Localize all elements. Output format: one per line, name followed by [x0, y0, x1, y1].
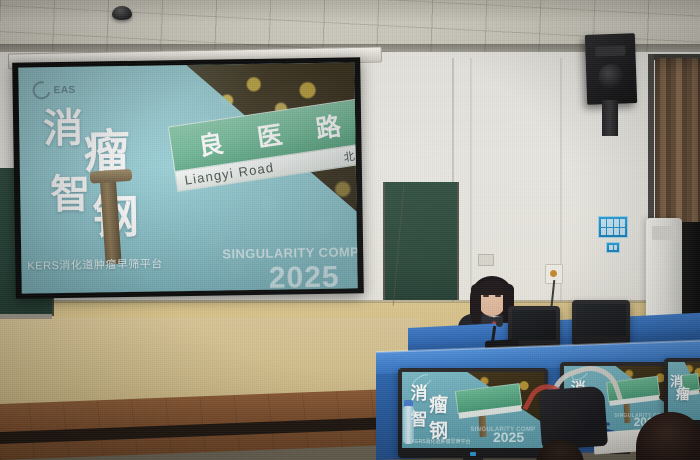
slide-competition-label: SINGULARITY COMP — [222, 244, 358, 261]
wall-speaker — [585, 33, 637, 105]
wall-plate — [478, 254, 494, 266]
street-sign-char-3: 路 — [313, 106, 344, 145]
mini-char-2: 瘤 — [676, 388, 690, 402]
monitor-center[interactable]: 消 瘤 智 钢 SINGULARITY COMP 2025 KERS消化道肿瘤早… — [398, 368, 548, 458]
street-sign-direction-char: 北 — [342, 147, 355, 164]
wall-notice-sign — [598, 216, 628, 238]
projection-screen: EAS 消 瘤 智 钢 良 医 路 Liangyi Road 北 ▶ — [12, 57, 364, 298]
speaker-driver-icon — [598, 64, 625, 91]
ac-control-panel[interactable] — [652, 226, 676, 240]
mini-year: 2025 — [493, 429, 524, 445]
slide-char-1: 消 — [43, 109, 84, 150]
monitor-screen — [512, 310, 556, 340]
slide-logo-mark-icon — [29, 78, 54, 103]
street-sign-direction: 北 ▶ — [342, 146, 357, 165]
monitor-slide-mirror: 消 瘤 智 钢 SINGULARITY COMP 2025 KERS消化道肿瘤早… — [402, 372, 544, 448]
wall-seam — [470, 58, 472, 308]
wall-notice-sign-small — [606, 242, 620, 253]
street-sign-char-2: 医 — [255, 115, 286, 154]
presenter-eye-left — [483, 295, 489, 297]
speaker-tweeter-icon — [595, 45, 625, 56]
slide-logo-text: EAS — [54, 84, 76, 95]
street-sign-char-1: 良 — [196, 124, 227, 163]
presenter-eye-right — [495, 295, 501, 297]
slide-logo: EAS — [32, 74, 92, 105]
speaker-bracket — [602, 100, 618, 136]
dome-camera-icon — [112, 6, 132, 20]
monitor-far-right[interactable] — [572, 300, 630, 346]
outlet-indicator-icon — [550, 270, 557, 277]
monitor-screen: 消 瘤 智 钢 SINGULARITY COMP 2025 KERS消化道肿瘤早… — [402, 372, 544, 448]
mini-char-2: 瘤 — [429, 396, 448, 415]
arrow-right-icon: ▶ — [355, 147, 357, 161]
water-bottle[interactable] — [403, 406, 414, 444]
projection-screen-surface: EAS 消 瘤 智 钢 良 医 路 Liangyi Road 北 ▶ — [18, 62, 358, 293]
photo-scene: EAS 消 瘤 智 钢 良 医 路 Liangyi Road 北 ▶ — [0, 0, 700, 460]
mini-tagline: KERS消化道肿瘤早筛平台 — [412, 438, 471, 445]
presenter-hair-left — [471, 284, 481, 324]
monitor-screen — [576, 304, 626, 336]
chalk-tray — [0, 314, 52, 319]
backpack — [538, 386, 608, 450]
slide-char-3: 智 — [50, 175, 91, 216]
monitor-power-led — [470, 452, 476, 456]
slide-tagline: KERS消化道肿瘤早筛平台 — [27, 255, 163, 273]
microphone-head-icon — [496, 320, 503, 327]
mini-char-1: 消 — [411, 386, 428, 403]
slide-year: 2025 — [269, 261, 340, 294]
slide-char-2: 瘤 — [83, 128, 130, 175]
